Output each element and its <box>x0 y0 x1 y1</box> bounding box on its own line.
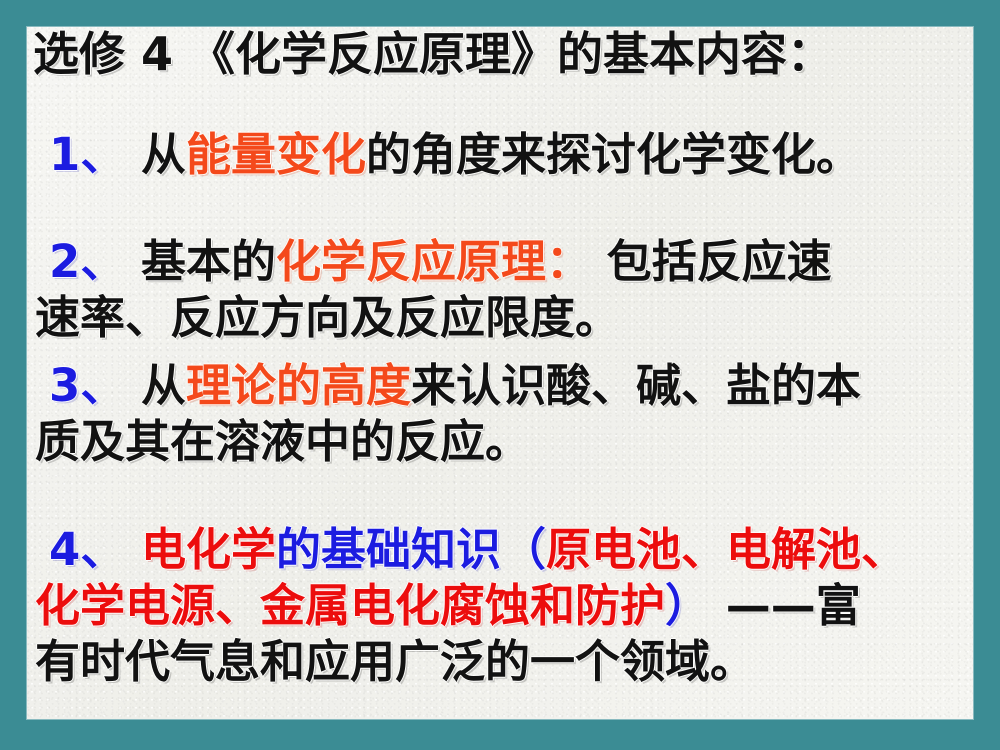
list-item-4-line-3: 有时代气息和应用广泛的一个领域。 <box>35 639 755 684</box>
list-item-3-line-2: 质及其在溶液中的反应。 <box>35 419 530 464</box>
list-item-3-line-1: 3、 从理论的高度来认识酸、碱、盐的本 <box>49 363 861 408</box>
slide-paper-background: 选修 4 《化学反应原理》的基本内容： 1、 从能量变化的角度来探讨化学变化。 … <box>27 27 973 719</box>
item-1-number: 1 <box>49 128 80 181</box>
item-4-dash-text: ——富 <box>710 579 861 632</box>
item-1-highlight: 能量变化 <box>186 128 366 181</box>
item-4-highlight-red: 电化学 <box>141 523 276 576</box>
slide-content: 选修 4 《化学反应原理》的基本内容： 1、 从能量变化的角度来探讨化学变化。 … <box>27 27 973 719</box>
item-4-number: 4 <box>49 523 80 576</box>
item-4-paren-close: ） <box>665 579 710 632</box>
item-4-space <box>125 523 141 576</box>
item-1-number-mark: 、 <box>80 128 125 181</box>
list-item-2-line-1: 2、 基本的化学反应原理： 包括反应速 <box>49 239 832 284</box>
item-1-text-a: 从 <box>125 128 186 181</box>
item-4-text-blue: 的基础知识 <box>276 523 501 576</box>
list-item-4-line-1: 4、 电化学的基础知识（原电池、电解池、 <box>49 527 906 572</box>
item-4-number-mark: 、 <box>80 523 125 576</box>
list-item-4-line-2: 化学电源、金属电化腐蚀和防护） ——富 <box>35 583 861 628</box>
item-3-number-mark: 、 <box>80 359 125 412</box>
item-3-number: 3 <box>49 359 80 412</box>
list-item-2-line-2: 速率、反应方向及反应限度。 <box>35 295 620 340</box>
item-2-number: 2 <box>49 235 80 288</box>
slide-canvas: 选修 4 《化学反应原理》的基本内容： 1、 从能量变化的角度来探讨化学变化。 … <box>0 0 1000 750</box>
item-4-paren-content-b: 化学电源、金属电化腐蚀和防护 <box>35 579 665 632</box>
list-item-1: 1、 从能量变化的角度来探讨化学变化。 <box>49 132 861 177</box>
item-2-text-b: 包括反应速 <box>591 235 832 288</box>
item-1-text-b: 的角度来探讨化学变化。 <box>366 128 861 181</box>
item-2-text-a: 基本的 <box>125 235 276 288</box>
item-2-number-mark: 、 <box>80 235 125 288</box>
item-2-highlight: 化学反应原理： <box>276 235 591 288</box>
page-title: 选修 4 《化学反应原理》的基本内容： <box>33 31 833 77</box>
item-3-text-a: 从 <box>125 359 186 412</box>
item-4-paren-open: （ <box>501 523 546 576</box>
item-3-highlight: 理论的高度 <box>186 359 411 412</box>
item-3-text-b: 来认识酸、碱、盐的本 <box>411 359 861 412</box>
item-4-paren-content-a: 原电池、电解池、 <box>546 523 906 576</box>
